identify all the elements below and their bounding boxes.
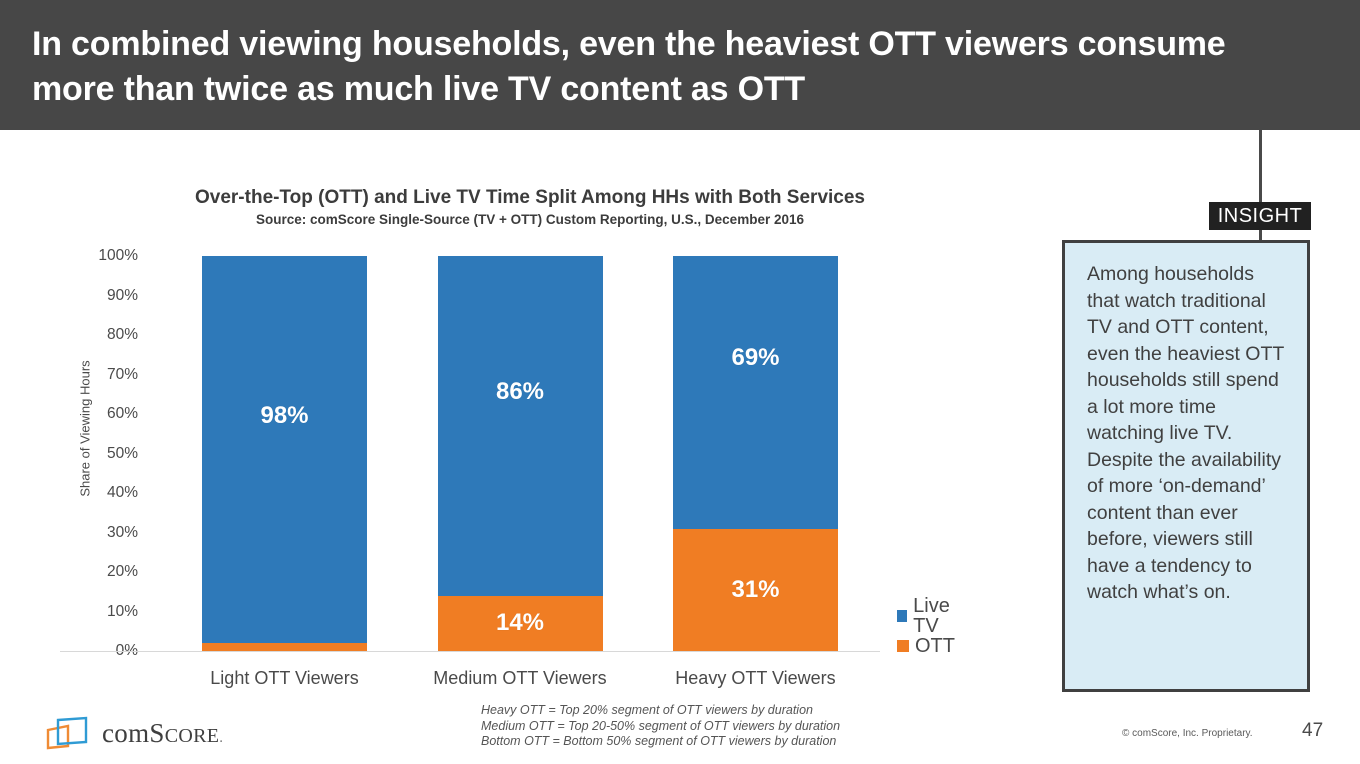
footnote-heavy-ott: Heavy OTT = Top 20% segment of OTT viewe… bbox=[481, 703, 901, 719]
x-axis-category-label: Medium OTT Viewers bbox=[405, 668, 635, 689]
bar-segment-ott[interactable]: 31% bbox=[673, 529, 838, 651]
y-axis-tick: 40% bbox=[60, 484, 138, 502]
bar-label-live-tv: 69% bbox=[731, 344, 779, 372]
y-axis-tick: 90% bbox=[60, 287, 138, 305]
x-axis-line bbox=[60, 651, 880, 652]
insight-callout-box: Among households that watch traditional … bbox=[1062, 240, 1310, 692]
bar-group[interactable]: 2%98% bbox=[202, 256, 367, 651]
chart-footnotes: Heavy OTT = Top 20% segment of OTT viewe… bbox=[481, 703, 901, 750]
bar-segment-live-tv[interactable]: 69% bbox=[673, 256, 838, 529]
logo-text-com: com bbox=[102, 718, 149, 748]
insight-body-text: Among households that watch traditional … bbox=[1087, 261, 1285, 606]
y-axis-tick: 80% bbox=[60, 326, 138, 344]
legend-label-live-tv: Live TV bbox=[913, 596, 970, 636]
logo-text-s: S bbox=[149, 718, 164, 748]
copyright-notice: © comScore, Inc. Proprietary. bbox=[1122, 728, 1253, 739]
bar-segment-ott[interactable]: 2% bbox=[202, 643, 367, 651]
bar-segment-ott[interactable]: 14% bbox=[438, 596, 603, 651]
bar-group[interactable]: 31%69% bbox=[673, 256, 838, 651]
y-axis-tick: 100% bbox=[60, 247, 138, 265]
logo-text-dot: . bbox=[219, 730, 223, 746]
y-axis-tick: 60% bbox=[60, 405, 138, 423]
bar-label-ott: 31% bbox=[731, 576, 779, 604]
x-axis-category-label: Heavy OTT Viewers bbox=[641, 668, 871, 689]
y-axis-tick: 70% bbox=[60, 366, 138, 384]
chart-plot: Share of Viewing Hours 100%90%80%70%60%5… bbox=[40, 246, 970, 666]
legend-swatch-live-tv bbox=[897, 610, 907, 622]
x-axis-category-label: Light OTT Viewers bbox=[170, 668, 400, 689]
page-number: 47 bbox=[1302, 720, 1323, 742]
comscore-logo-text: comSCORE. bbox=[102, 718, 223, 753]
bar-label-ott: 14% bbox=[496, 609, 544, 637]
legend-swatch-ott bbox=[897, 640, 909, 652]
footnote-bottom-ott: Bottom OTT = Bottom 50% segment of OTT v… bbox=[481, 734, 901, 750]
comscore-logo: comSCORE. bbox=[46, 710, 276, 756]
insight-badge: INSIGHT bbox=[1209, 202, 1311, 230]
chart-source-note: Source: comScore Single-Source (TV + OTT… bbox=[135, 211, 925, 229]
bars-container: 2%98%Light OTT Viewers14%86%Medium OTT V… bbox=[160, 256, 880, 651]
slide-header-bar: In combined viewing households, even the… bbox=[0, 0, 1360, 130]
bar-label-live-tv: 86% bbox=[496, 378, 544, 406]
bar-segment-live-tv[interactable]: 98% bbox=[202, 256, 367, 643]
legend-label-ott: OTT bbox=[915, 636, 955, 656]
comscore-logo-mark-icon bbox=[46, 716, 92, 750]
bar-segment-live-tv[interactable]: 86% bbox=[438, 256, 603, 596]
page-title: In combined viewing households, even the… bbox=[32, 22, 1282, 112]
chart-legend: Live TV OTT bbox=[897, 601, 970, 661]
bar-label-live-tv: 98% bbox=[260, 402, 308, 430]
footnote-medium-ott: Medium OTT = Top 20-50% segment of OTT v… bbox=[481, 719, 901, 735]
y-axis-tick: 20% bbox=[60, 563, 138, 581]
y-axis-tick: 30% bbox=[60, 524, 138, 542]
chart-title: Over-the-Top (OTT) and Live TV Time Spli… bbox=[135, 186, 925, 210]
logo-text-core: CORE bbox=[165, 725, 220, 747]
y-axis-tick: 50% bbox=[60, 445, 138, 463]
y-axis-tick: 10% bbox=[60, 603, 138, 621]
bar-group[interactable]: 14%86% bbox=[438, 256, 603, 651]
legend-item-live-tv: Live TV bbox=[897, 601, 970, 631]
